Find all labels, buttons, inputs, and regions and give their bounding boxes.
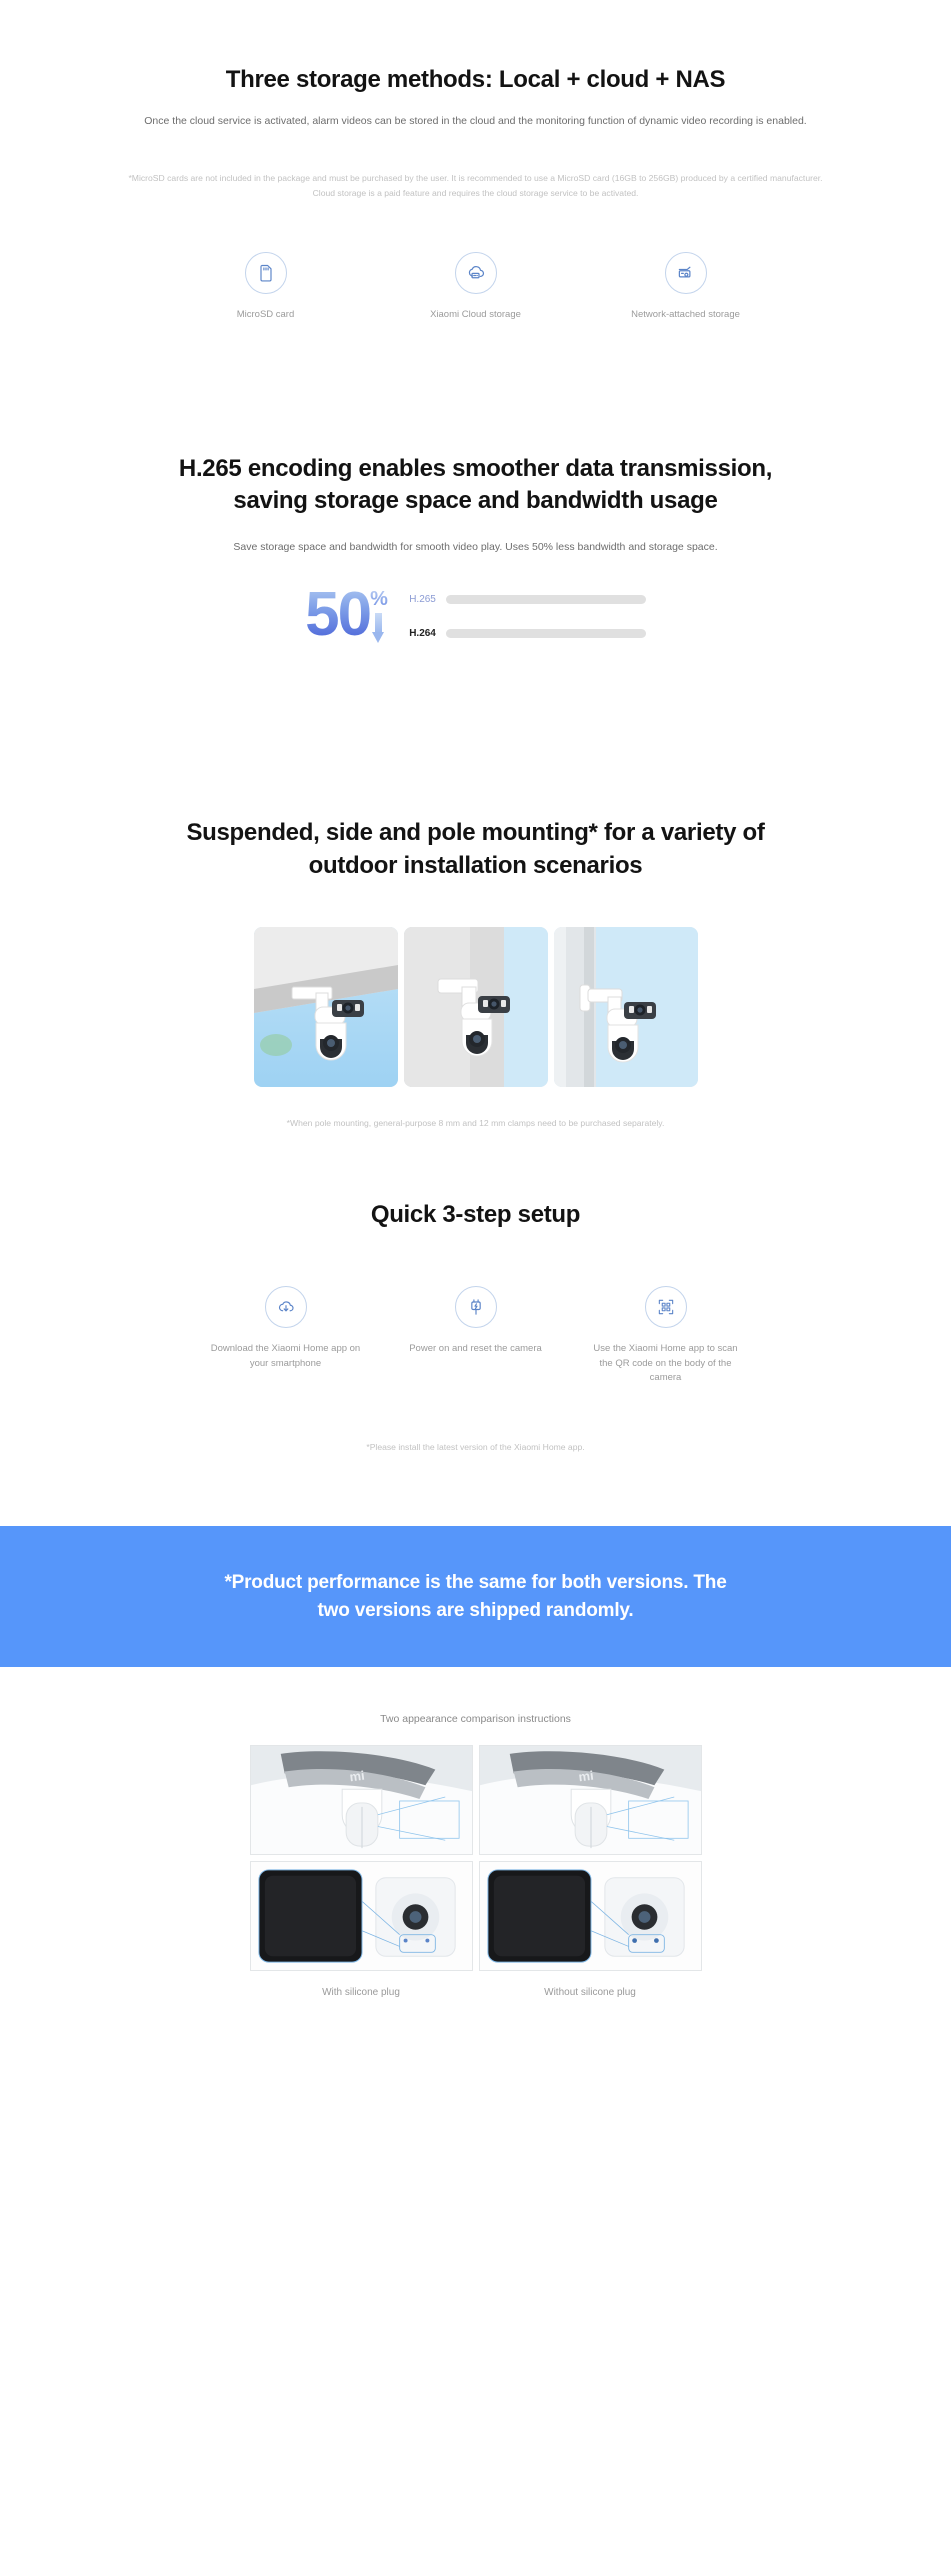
storage-disclaimer: *MicroSD cards are not included in the p… xyxy=(118,171,834,201)
nas-icon xyxy=(665,252,707,294)
cloud-storage-icon xyxy=(455,252,497,294)
bar-track-h264 xyxy=(446,629,646,638)
with-plug-bottom-photo xyxy=(250,1861,473,1971)
encoding-heading: H.265 encoding enables smoother data tra… xyxy=(176,453,776,518)
percent-symbol: % xyxy=(370,589,388,609)
pole-mounting-photo xyxy=(554,927,698,1087)
comparison-column-without-plug: mi xyxy=(479,1745,702,1998)
without-plug-top-photo: mi xyxy=(479,1745,702,1855)
storage-item-microsd-card[interactable]: MicroSD card xyxy=(191,252,341,322)
microsd-card-icon xyxy=(245,252,287,294)
bar-label-h265: H.265 xyxy=(402,594,436,605)
comparison-grid: mi xyxy=(0,1745,951,1998)
storage-item-label: Xiaomi Cloud storage xyxy=(430,308,521,322)
version-notice-banner: *Product performance is the same for bot… xyxy=(0,1526,951,1667)
svg-text:mi: mi xyxy=(348,1768,365,1785)
comparison-caption: With silicone plug xyxy=(250,1987,473,1998)
encoding-subtitle: Save storage space and bandwidth for smo… xyxy=(126,539,826,556)
with-plug-top-photo: mi xyxy=(250,1745,473,1855)
comparison-caption: Without silicone plug xyxy=(479,1987,702,1998)
setup-step-label: Power on and reset the camera xyxy=(409,1342,542,1356)
setup-step-scan-qr[interactable]: Use the Xiaomi Home app to scan the QR c… xyxy=(591,1286,741,1385)
setup-footnote: *Please install the latest version of th… xyxy=(116,1440,836,1455)
side-mounting-photo xyxy=(404,927,548,1087)
mounting-footnote: *When pole mounting, general-purpose 8 m… xyxy=(116,1116,836,1131)
svg-text:mi: mi xyxy=(577,1768,594,1785)
storage-icon-row: MicroSD card Xiaomi Cloud storage xyxy=(0,252,951,322)
storage-item-label: Network-attached storage xyxy=(631,308,740,322)
mounting-photo-row xyxy=(0,927,951,1087)
suspended-mounting-photo xyxy=(254,927,398,1087)
bar-label-h264: H.264 xyxy=(402,628,436,639)
cloud-download-icon xyxy=(265,1286,307,1328)
setup-step-label: Use the Xiaomi Home app to scan the QR c… xyxy=(591,1342,741,1385)
mounting-heading: Suspended, side and pole mounting* for a… xyxy=(156,817,796,882)
encoding-section: H.265 encoding enables smoother data tra… xyxy=(0,322,951,645)
storage-item-label: MicroSD card xyxy=(237,308,295,322)
percent-value: 50 xyxy=(305,587,370,643)
qr-scan-icon xyxy=(645,1286,687,1328)
setup-step-label: Download the Xiaomi Home app on your sma… xyxy=(211,1342,361,1371)
bar-row-h264: H.264 xyxy=(402,628,646,639)
encoding-comparison-chart: 50 % H.265 H.264 xyxy=(0,587,951,645)
storage-subtitle: Once the cloud service is activated, ala… xyxy=(126,113,826,130)
comparison-column-with-plug: mi xyxy=(250,1745,473,1998)
appearance-comparison-section: Two appearance comparison instructions m… xyxy=(0,1667,951,2053)
storage-heading: Three storage methods: Local + cloud + N… xyxy=(0,64,951,96)
setup-step-row: Download the Xiaomi Home app on your sma… xyxy=(0,1286,951,1385)
setup-step-power-on-reset[interactable]: Power on and reset the camera xyxy=(401,1286,551,1385)
setup-section: Quick 3-step setup Download the Xiaomi H… xyxy=(0,1131,951,1455)
version-notice-text: *Product performance is the same for bot… xyxy=(216,1569,736,1624)
product-detail-page: Three storage methods: Local + cloud + N… xyxy=(0,0,951,2053)
storage-methods-section: Three storage methods: Local + cloud + N… xyxy=(0,0,951,322)
bar-track-h265 xyxy=(446,595,646,604)
setup-heading: Quick 3-step setup xyxy=(0,1199,951,1231)
codec-bar-chart: H.265 H.264 xyxy=(402,594,646,639)
without-plug-bottom-photo xyxy=(479,1861,702,1971)
bar-row-h265: H.265 xyxy=(402,594,646,605)
arrow-down-icon xyxy=(372,613,385,643)
setup-step-download-app[interactable]: Download the Xiaomi Home app on your sma… xyxy=(211,1286,361,1385)
power-plug-icon xyxy=(455,1286,497,1328)
storage-item-network-attached-storage[interactable]: Network-attached storage xyxy=(611,252,761,322)
comparison-note: Two appearance comparison instructions xyxy=(0,1713,951,1725)
percent-column: % xyxy=(370,587,388,645)
storage-item-xiaomi-cloud-storage[interactable]: Xiaomi Cloud storage xyxy=(401,252,551,322)
mounting-section: Suspended, side and pole mounting* for a… xyxy=(0,645,951,1131)
